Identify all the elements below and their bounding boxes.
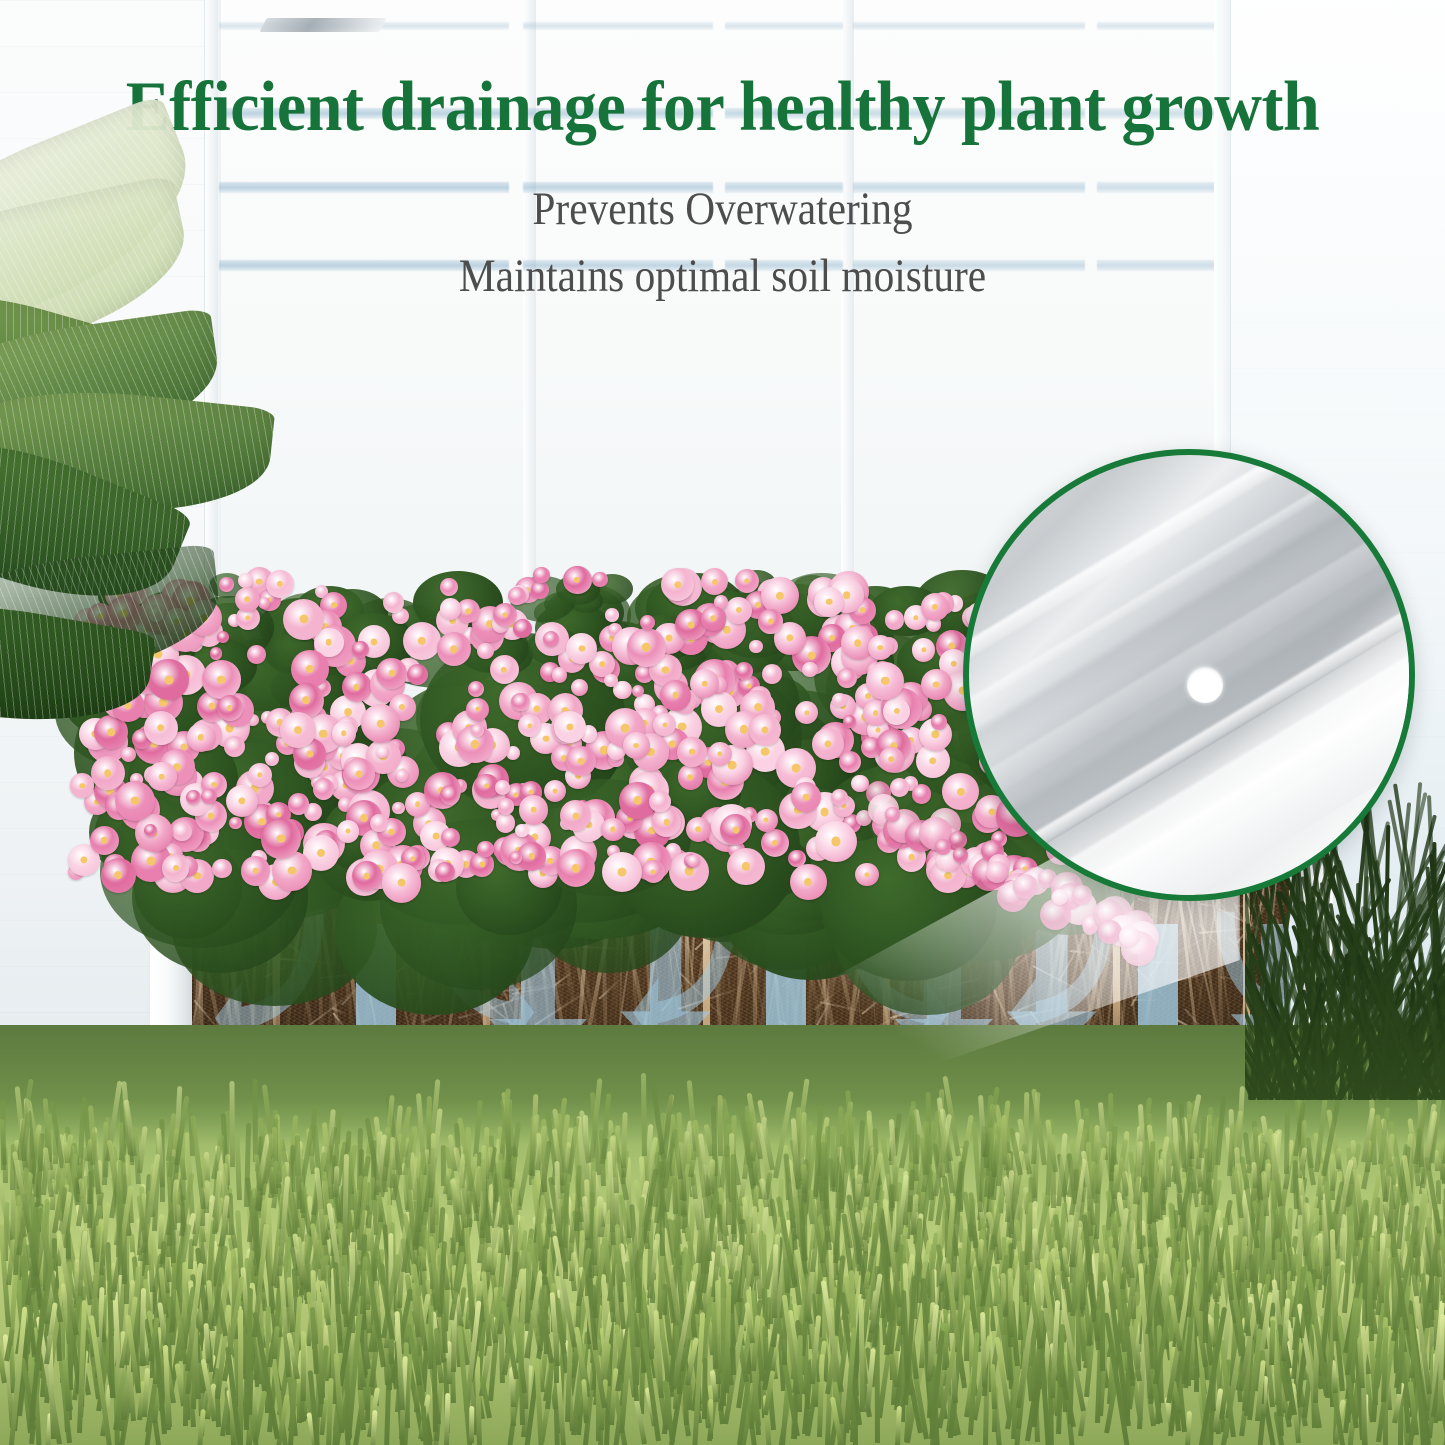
rose-blossom — [441, 828, 460, 847]
rose-center — [294, 726, 302, 734]
rose-center — [651, 869, 656, 874]
rose-center — [664, 819, 670, 825]
rose-center — [80, 856, 87, 863]
rose-center — [371, 638, 378, 645]
rose-center — [865, 872, 870, 877]
rose-center — [288, 866, 297, 875]
rose-blossom-trailing — [885, 807, 899, 821]
rose-blossom — [678, 764, 704, 790]
rose-center — [528, 853, 535, 860]
rose-center — [373, 842, 380, 849]
rose-center — [908, 854, 914, 860]
rose-center — [672, 692, 679, 699]
rose-blossom — [144, 824, 157, 837]
rose-blossom — [727, 848, 764, 885]
rose-blossom — [342, 672, 372, 702]
rose-blossom — [649, 791, 670, 812]
rose-center — [415, 801, 421, 807]
rose-center — [157, 724, 164, 731]
rose-center — [829, 635, 835, 641]
rose-blossom — [511, 693, 529, 711]
rose-center — [79, 783, 84, 788]
grass-blade — [711, 1302, 718, 1369]
rose-center — [740, 725, 748, 733]
rose-blossom — [885, 610, 905, 630]
rose-blossom — [921, 593, 949, 621]
rose-blossom — [466, 698, 489, 721]
rose-center — [688, 621, 695, 628]
rose-blossom — [288, 793, 310, 815]
rose-blossom — [701, 606, 726, 631]
rose-blossom — [623, 732, 650, 759]
rose-blossom — [749, 640, 762, 653]
rose-center — [198, 734, 204, 740]
grass-blade — [266, 1197, 274, 1313]
rose-blossom — [815, 821, 857, 863]
rose-center — [101, 837, 107, 843]
rose-blossom — [832, 693, 846, 707]
rose-blossom — [435, 862, 455, 882]
rose-blossom — [931, 714, 947, 730]
rose-center — [209, 703, 216, 710]
grass-blade — [541, 1119, 547, 1192]
rose-blossom — [376, 658, 407, 689]
rose-center — [599, 661, 605, 667]
grass-blade — [718, 1095, 723, 1156]
rose-center — [574, 577, 580, 583]
rose-blossom — [471, 724, 484, 737]
rose-blossom — [677, 737, 707, 767]
rose-center — [277, 834, 286, 843]
grass-blade — [916, 1260, 922, 1302]
rose-blossom — [201, 789, 216, 804]
rose-blossom — [121, 747, 136, 762]
rose-center — [805, 878, 813, 886]
rose-center — [878, 645, 883, 650]
rose-blossom — [440, 578, 458, 596]
rose-center — [227, 705, 233, 711]
rose-blossom — [921, 669, 952, 700]
rose-center — [360, 814, 368, 822]
rose-center — [571, 864, 579, 872]
subtitle-line-2: Maintains optimal soil moisture — [87, 253, 1359, 300]
grass-blade — [542, 1245, 548, 1274]
rose-center — [277, 581, 283, 587]
grass-blade — [797, 1335, 803, 1412]
rose-center — [755, 602, 761, 608]
rose-center — [376, 720, 385, 729]
grass-blade — [234, 1134, 242, 1200]
page-title: Efficient drainage for healthy plant gro… — [51, 72, 1395, 143]
rose-blossom — [440, 598, 462, 620]
rose-center — [104, 769, 112, 777]
rose-blossom — [802, 662, 818, 678]
rose-blossom — [376, 746, 389, 759]
rose-center — [711, 615, 716, 620]
rose-center — [824, 740, 831, 747]
grass-blade — [702, 1358, 708, 1419]
rose-center — [776, 592, 784, 600]
pink-rose-bush — [85, 565, 1085, 895]
grass-blade — [466, 1127, 472, 1227]
rose-blossom — [202, 660, 240, 698]
rose-center — [685, 867, 694, 876]
rose-center — [388, 829, 394, 835]
rose-center — [164, 675, 173, 684]
rose-blossom — [814, 587, 844, 617]
rose-center — [530, 807, 537, 814]
rose-center — [860, 608, 866, 614]
rose-center — [889, 757, 894, 762]
grass-blade — [659, 1161, 665, 1256]
rose-blossom — [291, 650, 329, 688]
rose-center — [933, 681, 940, 688]
rose-center — [717, 751, 722, 756]
trellis-slat — [853, 22, 1085, 30]
rose-center — [744, 578, 749, 583]
grass-blade — [990, 1364, 997, 1409]
rose-center — [257, 772, 262, 777]
rose-center — [363, 873, 370, 880]
grass-blade — [428, 1305, 434, 1369]
rose-center — [245, 615, 250, 620]
rose-center — [471, 740, 479, 748]
grass-blade — [370, 1410, 377, 1445]
rose-center — [618, 868, 627, 877]
rose-blossom — [604, 674, 617, 687]
rose-center — [238, 797, 245, 804]
rose-center — [873, 710, 879, 716]
grass-blade — [830, 1126, 836, 1187]
rose-center — [553, 788, 558, 793]
rose-center — [621, 723, 630, 732]
rose-center — [772, 840, 778, 846]
grass-blade — [641, 1073, 647, 1156]
trellis-slat — [1097, 22, 1217, 30]
rose-blossom — [224, 736, 245, 757]
trellis-slat — [725, 22, 843, 30]
rose-blossom — [839, 751, 861, 773]
rose-blossom — [477, 643, 493, 659]
rose-blossom — [226, 785, 259, 818]
rose-blossom — [557, 849, 595, 887]
rose-center — [302, 696, 310, 704]
rose-center — [689, 749, 696, 756]
rose-center — [299, 615, 308, 624]
rose-blossom — [762, 664, 782, 684]
grass-blade — [0, 1119, 7, 1165]
rose-blossom — [91, 756, 125, 790]
rose-center — [894, 708, 900, 714]
rose-center — [712, 579, 718, 585]
rose-center — [256, 579, 263, 586]
rose-center — [502, 612, 507, 617]
rose-blossom — [755, 809, 778, 832]
rose-blossom — [337, 820, 359, 842]
rose-blossom — [496, 813, 516, 833]
rose-blossom — [332, 721, 357, 746]
rose-blossom — [508, 587, 526, 605]
rose-center — [527, 723, 532, 728]
drainage-hole-magnifier[interactable] — [963, 449, 1415, 901]
rose-center — [547, 858, 553, 864]
rose-center — [131, 796, 140, 805]
rose-center — [306, 750, 313, 757]
grass-blade — [914, 1134, 920, 1164]
rose-blossom — [605, 608, 618, 621]
rose-blossom — [283, 599, 324, 640]
grass-blade — [940, 1128, 946, 1177]
rose-center — [397, 878, 406, 887]
rose-center — [514, 792, 519, 797]
trellis-slat — [523, 22, 713, 30]
rose-blossom — [407, 664, 428, 685]
rose-center — [662, 666, 669, 673]
rose-blossom — [912, 784, 932, 804]
rose-blossom — [219, 577, 234, 592]
grass-blade — [229, 1081, 235, 1167]
rose-center — [662, 722, 667, 727]
grass-blade — [725, 1145, 731, 1225]
rose-center — [804, 710, 809, 715]
rose-blossom — [687, 855, 699, 867]
rose-center — [399, 704, 405, 710]
rose-blossom — [396, 769, 408, 781]
grass-blade — [301, 1331, 306, 1401]
rose-blossom — [187, 723, 216, 752]
lawn-foreground — [0, 1025, 1445, 1445]
rose-center — [826, 598, 833, 605]
rose-center — [345, 829, 350, 834]
rose-blossom — [519, 795, 549, 825]
rose-center — [484, 783, 489, 788]
rose-blossom — [212, 859, 232, 879]
rose-center — [341, 731, 346, 736]
rose-blossom — [280, 712, 316, 748]
rose-center — [578, 645, 585, 652]
rose-center — [107, 729, 115, 737]
grass-blade — [895, 1406, 902, 1445]
rose-center — [410, 856, 415, 861]
rose-center — [642, 643, 651, 652]
grass-blade — [563, 1183, 569, 1279]
rose-blossom — [217, 695, 243, 721]
rose-blossom — [890, 778, 909, 797]
grass-blade — [66, 1232, 71, 1259]
rose-center — [388, 670, 395, 677]
rose-blossom — [837, 668, 857, 688]
rose-center — [217, 675, 225, 683]
rose-blossom-trailing — [953, 847, 968, 862]
rose-blossom — [313, 778, 334, 799]
rose-center — [792, 764, 801, 773]
rose-blossom — [229, 817, 241, 829]
rose-blossom — [115, 781, 155, 821]
rose-center — [932, 604, 938, 610]
rose-blossom — [266, 570, 294, 598]
rose-blossom — [162, 854, 189, 881]
rose-blossom — [758, 609, 782, 633]
rose-center — [764, 818, 769, 823]
rose-center — [666, 635, 673, 642]
rose-blossom — [217, 631, 229, 643]
rose-blossom — [531, 581, 549, 599]
rose-blossom — [879, 747, 904, 772]
rose-center — [932, 731, 939, 738]
rose-center — [688, 774, 694, 780]
rose-blossom — [248, 763, 272, 787]
rose-blossom — [498, 798, 514, 814]
rose-center — [306, 665, 314, 673]
rose-center — [466, 609, 471, 614]
rose-center — [418, 637, 426, 645]
grass-blade — [1336, 1148, 1341, 1170]
rose-blossom — [148, 659, 189, 700]
rose-center — [715, 705, 723, 713]
rose-center — [957, 788, 965, 796]
rose-center — [432, 833, 439, 840]
rose-center — [325, 639, 332, 646]
rose-center — [319, 729, 328, 738]
rose-blossom — [490, 655, 519, 684]
drainage-hole — [1187, 667, 1223, 703]
rose-center — [881, 677, 889, 685]
rose-center — [831, 837, 840, 846]
rose-center — [317, 849, 325, 857]
rose-blossom — [592, 572, 607, 587]
rose-blossom — [235, 587, 260, 612]
rose-center — [173, 865, 179, 871]
rose-center — [742, 862, 750, 870]
rose-center — [252, 868, 259, 875]
rose-center — [159, 773, 165, 779]
rose-blossom — [552, 667, 568, 683]
rose-blossom — [392, 802, 404, 814]
rose-blossom — [749, 714, 781, 746]
rose-blossom — [855, 863, 878, 886]
rose-center — [331, 602, 337, 608]
rose-center — [211, 782, 217, 788]
rose-blossom — [708, 742, 732, 766]
rose-center — [114, 872, 122, 880]
rose-center — [929, 757, 936, 764]
rose-center — [696, 826, 701, 831]
grass-blades — [0, 1025, 1445, 1445]
rose-blossom — [147, 762, 176, 791]
rose-center — [728, 760, 737, 769]
rose-center — [633, 743, 639, 749]
rose-blossom — [343, 758, 375, 790]
grass-blade — [469, 1406, 474, 1443]
rose-center — [876, 728, 881, 733]
rose-center — [634, 796, 642, 804]
rose-center — [147, 857, 156, 866]
rose-center — [754, 704, 762, 712]
rose-blossom — [660, 680, 691, 711]
rose-center — [768, 619, 773, 624]
rose-blossom — [186, 790, 201, 805]
rose-blossom — [790, 864, 826, 900]
rose-center — [669, 741, 676, 748]
rose-blossom — [510, 851, 522, 863]
rose-center — [843, 592, 851, 600]
rose-center — [803, 794, 810, 801]
rose-center — [480, 862, 485, 867]
rose-center — [276, 812, 282, 818]
rose-center — [245, 596, 250, 601]
rose-center — [534, 706, 541, 713]
product-feature-image: Efficient drainage for healthy plant gro… — [0, 0, 1445, 1445]
rose-center — [356, 771, 363, 778]
rose-center — [567, 723, 574, 730]
rose-center — [208, 813, 215, 820]
rose-center — [820, 808, 829, 817]
rose-center — [913, 615, 918, 620]
rose-center — [944, 872, 952, 880]
rose-blossom — [241, 856, 271, 886]
rose-blossom-trailing — [935, 839, 951, 855]
rose-center — [854, 639, 862, 647]
rose-center — [732, 826, 739, 833]
rose-blossom — [812, 728, 844, 760]
grass-blade — [87, 1171, 93, 1204]
rose-center — [578, 758, 585, 765]
rose-blossom — [403, 622, 441, 660]
rose-blossom — [493, 603, 517, 627]
rose-blossom — [627, 628, 666, 667]
rose-center — [988, 808, 995, 815]
rose-blossom — [735, 569, 759, 593]
rose-blossom — [533, 567, 549, 583]
rose-center — [736, 607, 742, 613]
rose-center — [475, 707, 480, 712]
rose-center — [701, 680, 707, 686]
rose-center — [501, 667, 507, 673]
rose-blossom — [382, 863, 422, 903]
rose-center — [450, 646, 458, 654]
rose-blossom — [172, 822, 191, 841]
rose-blossom — [90, 826, 119, 855]
rose-center — [542, 735, 549, 742]
rose-blossom — [866, 662, 904, 700]
rose-center — [921, 648, 926, 653]
subtitle-line-1: Prevents Overwatering — [87, 186, 1359, 233]
rose-center — [786, 635, 793, 642]
rose-blossom — [868, 635, 893, 660]
rose-center — [950, 660, 956, 666]
rose-center — [761, 747, 770, 756]
rose-center — [258, 818, 266, 826]
rose-center — [674, 581, 681, 588]
rose-center — [572, 812, 579, 819]
rose-blossom — [144, 711, 178, 745]
rose-blossom — [352, 861, 382, 891]
rose-blossom — [686, 817, 711, 842]
rose-blossom — [477, 841, 493, 857]
rose-blossom — [101, 858, 136, 893]
rose-blossom — [761, 829, 789, 857]
rose-center — [353, 684, 360, 691]
rose-center — [807, 652, 816, 661]
rose-blossom — [370, 814, 388, 832]
rose-blossom — [261, 819, 301, 859]
rose-center — [611, 827, 616, 832]
rose-center — [761, 726, 768, 733]
